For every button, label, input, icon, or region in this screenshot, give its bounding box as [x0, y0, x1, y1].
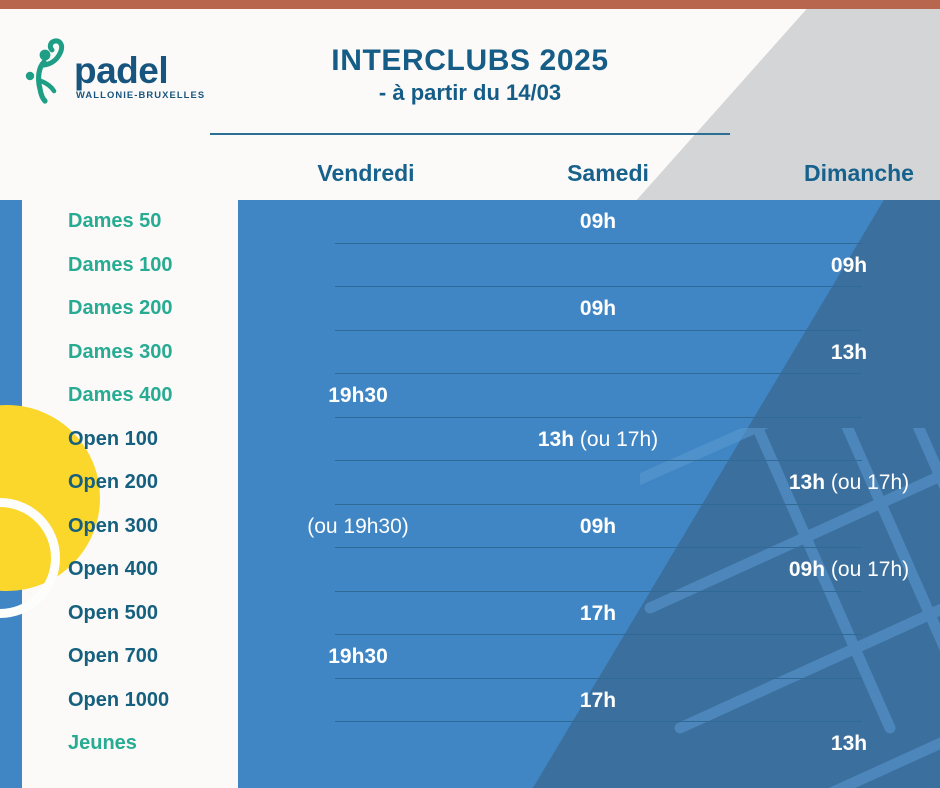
schedule-time: 17h [580, 689, 616, 712]
schedule-time: 09h [580, 515, 616, 538]
category-label: Open 400 [0, 548, 238, 592]
category-label: Open 700 [0, 635, 238, 679]
schedule-time: 09h [580, 297, 616, 320]
table-row: 09h [238, 287, 940, 331]
table-row: (ou 19h30)09h [238, 505, 940, 549]
table-row: 17h [238, 592, 940, 636]
poster-root: padel WALLONIE-BRUXELLES INTERCLUBS 2025… [0, 0, 940, 788]
schedule-cell-dimanche: 09h [718, 244, 940, 288]
category-label: Dames 400 [0, 374, 238, 418]
schedule-time: 13h [538, 428, 574, 451]
logo-subtitle: WALLONIE-BRUXELLES [76, 89, 204, 100]
schedule-time-alternative: (ou 19h30) [307, 515, 409, 538]
schedule-cell-samedi: 13h (ou 17h) [500, 418, 696, 462]
category-label: Open 1000 [0, 679, 238, 723]
category-label-column: Dames 50Dames 100Dames 200Dames 300Dames… [0, 200, 238, 788]
schedule-time: 13h [831, 732, 867, 755]
column-header-vendredi: Vendredi [256, 160, 476, 187]
category-label: Open 500 [0, 592, 238, 636]
column-header-dimanche: Dimanche [728, 160, 940, 187]
schedule-time: 17h [580, 602, 616, 625]
schedule-cell-vendredi: (ou 19h30) [248, 505, 468, 549]
schedule-cell-dimanche: 09h (ou 17h) [718, 548, 940, 592]
schedule-cell-samedi: 09h [500, 200, 696, 244]
category-label: Dames 50 [0, 200, 238, 244]
page-subtitle: - à partir du 14/03 [210, 80, 730, 106]
category-label: Open 300 [0, 505, 238, 549]
schedule-time: 09h [831, 254, 867, 277]
table-row: 13h (ou 17h) [238, 418, 940, 462]
table-row: 13h (ou 17h) [238, 461, 940, 505]
schedule-time-alternative: (ou 17h) [831, 558, 909, 581]
table-row: 19h30 [238, 635, 940, 679]
table-row: 19h30 [238, 374, 940, 418]
table-row: 13h [238, 331, 940, 375]
category-label: Open 200 [0, 461, 238, 505]
schedule-cell-vendredi: 19h30 [248, 374, 468, 418]
schedule-time-alternative: (ou 17h) [831, 471, 909, 494]
table-row: 09h [238, 244, 940, 288]
schedule-cell-samedi: 17h [500, 592, 696, 636]
column-header-samedi: Samedi [510, 160, 706, 187]
title-underline [210, 133, 730, 135]
schedule-time: 13h [831, 341, 867, 364]
schedule-time: 13h [789, 471, 825, 494]
logo-wordmark: padel [74, 50, 168, 91]
category-label: Dames 300 [0, 331, 238, 375]
table-row: 17h [238, 679, 940, 723]
schedule-cell-samedi: 17h [500, 679, 696, 723]
table-row: 09h (ou 17h) [238, 548, 940, 592]
schedule-table-panel: 09h09h09h13h19h3013h (ou 17h)13h (ou 17h… [238, 200, 940, 788]
top-accent-bar [0, 0, 940, 9]
page-title-block: INTERCLUBS 2025 - à partir du 14/03 [210, 44, 730, 106]
schedule-cell-dimanche: 13h [718, 331, 940, 375]
schedule-time-alternative: (ou 17h) [580, 428, 658, 451]
table-row: 13h [238, 722, 940, 766]
category-label: Open 100 [0, 418, 238, 462]
schedule-time: 19h30 [328, 645, 388, 668]
category-label: Jeunes [0, 722, 238, 766]
weekday-header-row: Vendredi Samedi Dimanche [238, 160, 940, 198]
padel-player-icon: padel WALLONIE-BRUXELLES [14, 33, 204, 105]
schedule-time: 19h30 [328, 384, 388, 407]
schedule-time: 09h [580, 210, 616, 233]
schedule-cell-samedi: 09h [500, 505, 696, 549]
schedule-rows: 09h09h09h13h19h3013h (ou 17h)13h (ou 17h… [238, 200, 940, 788]
schedule-cell-dimanche: 13h [718, 722, 940, 766]
schedule-cell-samedi: 09h [500, 287, 696, 331]
schedule-cell-vendredi: 19h30 [248, 635, 468, 679]
category-label: Dames 200 [0, 287, 238, 331]
page-title: INTERCLUBS 2025 [210, 44, 730, 78]
schedule-time: 09h [789, 558, 825, 581]
brand-logo: padel WALLONIE-BRUXELLES [14, 33, 204, 105]
table-row: 09h [238, 200, 940, 244]
schedule-cell-dimanche: 13h (ou 17h) [718, 461, 940, 505]
category-label: Dames 100 [0, 244, 238, 288]
